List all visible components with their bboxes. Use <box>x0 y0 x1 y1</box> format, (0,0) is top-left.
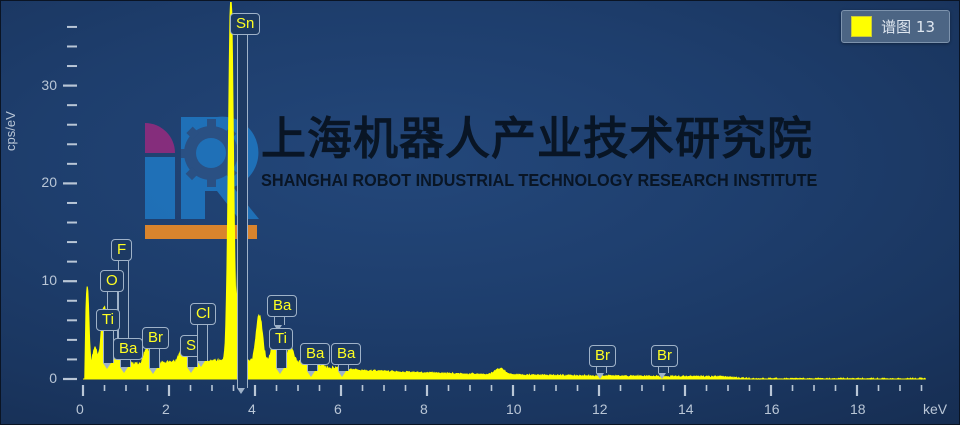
peak-label-tip <box>197 361 205 367</box>
x-tick-label: 0 <box>76 401 84 417</box>
peak-label-stem <box>120 360 131 367</box>
x-tick-label: 8 <box>420 401 428 417</box>
peak-label-tip <box>103 363 111 369</box>
peak-label-text: Ba <box>300 343 330 365</box>
y-axis-label: cps/eV <box>3 111 18 151</box>
x-axis-unit-label: keV <box>923 401 947 417</box>
y-tick-label: 0 <box>49 370 57 386</box>
peak-label-tip <box>187 367 195 373</box>
x-tick-label: 16 <box>764 401 780 417</box>
peak-label-text: Br <box>142 327 169 349</box>
y-tick-label: 20 <box>41 174 57 190</box>
x-tick-label: 14 <box>678 401 694 417</box>
peak-label-stem <box>274 317 285 325</box>
peak-label-text: O <box>100 270 124 292</box>
peak-label-text: Br <box>651 345 678 367</box>
peak-label-text: Ti <box>96 309 120 331</box>
peak-label-stem <box>149 349 160 368</box>
peak-label-tip <box>149 368 157 374</box>
peak-label-tip <box>120 367 128 373</box>
peak-label-text: Ba <box>113 338 143 360</box>
peak-label-text: Cl <box>190 303 216 325</box>
peak-label-stem <box>197 325 208 361</box>
x-tick-label: 6 <box>334 401 342 417</box>
peak-label-tip <box>307 371 315 377</box>
x-tick-label: 18 <box>850 401 866 417</box>
x-tick-label: 10 <box>506 401 522 417</box>
legend-color-swatch <box>851 16 872 37</box>
peak-label-text: Ba <box>331 343 361 365</box>
peak-label-tip <box>596 373 604 379</box>
peak-label-tip <box>276 368 284 374</box>
peak-label-stem <box>276 350 287 368</box>
legend-box[interactable]: 谱图 13 <box>841 10 950 43</box>
peak-label-tip <box>658 373 666 379</box>
x-tick-label: 4 <box>248 401 256 417</box>
spectrum-plot[interactable] <box>1 1 960 425</box>
legend-label: 谱图 13 <box>881 16 935 37</box>
peak-label-text: Sn <box>230 13 260 35</box>
peak-label-text: Ba <box>267 295 297 317</box>
peak-label-text: Br <box>589 345 616 367</box>
x-tick-label: 2 <box>162 401 170 417</box>
peak-label-tip <box>237 388 245 394</box>
peak-label-stem <box>237 35 248 388</box>
eds-spectrum-window: 上海机器人产业技术研究院 SHANGHAI ROBOT INDUSTRIAL T… <box>0 0 960 425</box>
peak-label-tip <box>338 371 346 377</box>
peak-label-text: Ti <box>269 328 293 350</box>
x-tick-label: 12 <box>592 401 608 417</box>
y-tick-label: 30 <box>41 77 57 93</box>
y-tick-label: 10 <box>41 272 57 288</box>
peak-label-text: F <box>111 239 132 261</box>
